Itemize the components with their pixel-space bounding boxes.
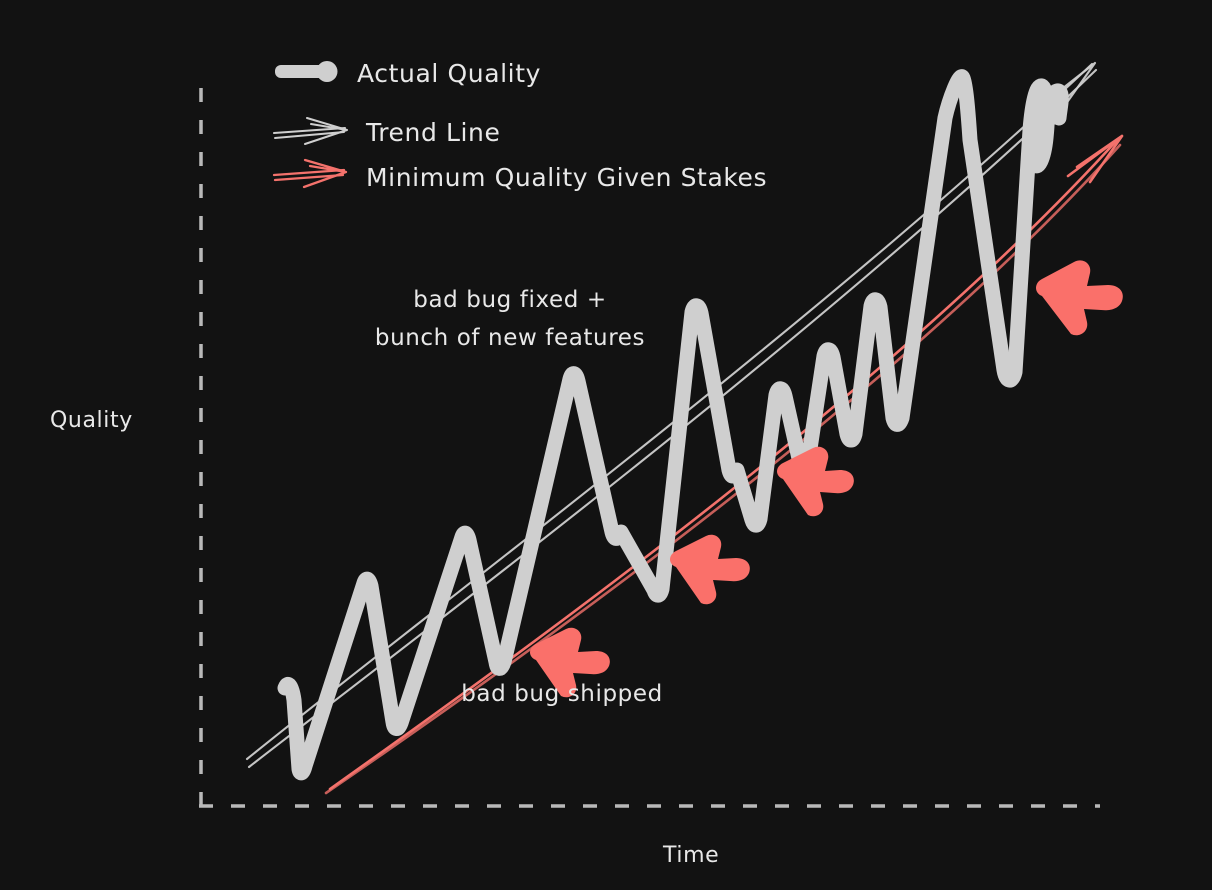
chart-root: Actual Quality Trend Line Minimum Qual	[0, 0, 1212, 890]
trend-line-marker-icon	[274, 118, 347, 144]
x-axis-label: Time	[662, 843, 719, 868]
annotation-bad-bug-fixed: bad bug fixed + bunch of new features	[375, 287, 645, 351]
arrow-dip-high	[1036, 260, 1123, 335]
quality-over-time-chart: Actual Quality Trend Line Minimum Qual	[0, 0, 1212, 890]
actual-quality-marker-icon	[275, 61, 338, 82]
legend-item-actual-quality[interactable]: Actual Quality	[275, 59, 541, 88]
y-axis-label: Quality	[50, 408, 133, 433]
annotation-bad-bug-fixed-line1: bad bug fixed +	[413, 287, 606, 313]
arrow-dip-mid-low	[670, 535, 750, 605]
legend-label-trend-line: Trend Line	[365, 118, 500, 147]
annotation-bad-bug-shipped: bad bug shipped	[461, 681, 663, 707]
legend: Actual Quality Trend Line Minimum Qual	[274, 59, 767, 192]
arrow-dip-mid-high	[777, 447, 854, 517]
arrow-dip-mid-high-icon	[777, 447, 854, 517]
legend-item-trend-line[interactable]: Trend Line	[274, 118, 500, 147]
minimum-quality-marker-icon	[274, 160, 346, 187]
annotation-bad-bug-fixed-line2: bunch of new features	[375, 325, 645, 351]
legend-label-minimum-quality: Minimum Quality Given Stakes	[366, 163, 767, 192]
legend-label-actual-quality: Actual Quality	[357, 59, 541, 88]
minimum-quality-arrowhead	[1068, 136, 1122, 182]
legend-item-minimum-quality[interactable]: Minimum Quality Given Stakes	[274, 160, 767, 192]
arrow-dip-mid-low-icon	[670, 535, 750, 605]
arrow-dip-high-icon	[1036, 260, 1123, 335]
